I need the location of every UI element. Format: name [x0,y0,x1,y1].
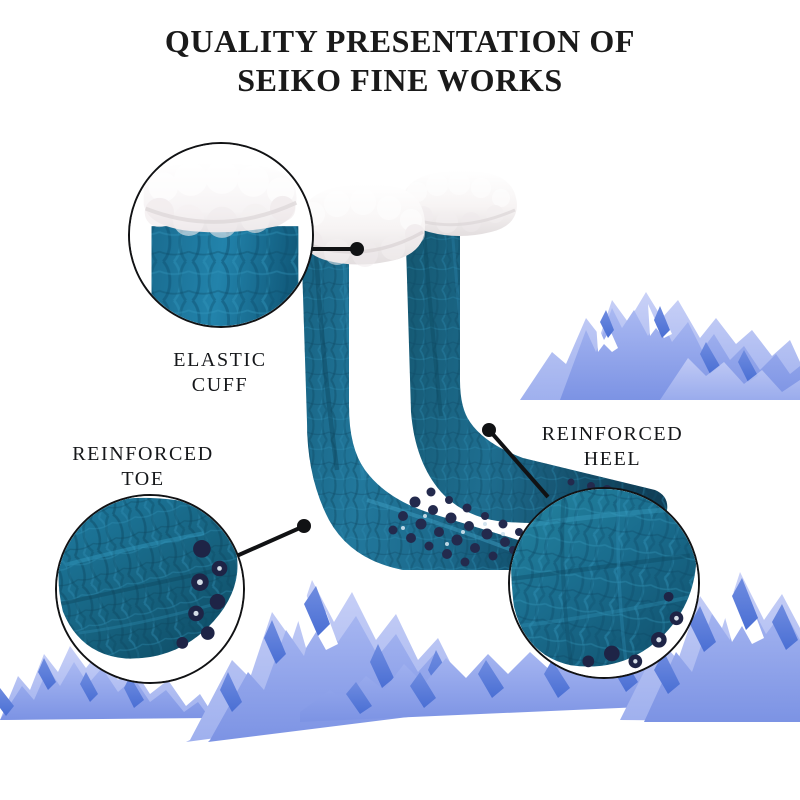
callout-label-elastic-cuff: ELASTIC CUFF [120,348,320,398]
infographic-canvas: QUALITY PRESENTATION OF SEIKO FINE WORKS [0,0,800,800]
detail-circle-elastic-cuff [128,142,314,328]
callout-label-reinforced-heel: REINFORCED HEEL [505,422,720,472]
detail-circle-cuff-art [130,144,312,326]
page-title: QUALITY PRESENTATION OF SEIKO FINE WORKS [0,22,800,100]
detail-circle-reinforced-toe [55,494,245,684]
callout-label-reinforced-toe: REINFORCED TOE [38,442,248,492]
sherpa-cuff-front [297,184,425,267]
detail-circle-reinforced-heel [508,487,700,679]
detail-circle-heel-art [510,489,698,677]
sock-back [395,171,675,541]
detail-circle-toe-art [57,496,243,682]
